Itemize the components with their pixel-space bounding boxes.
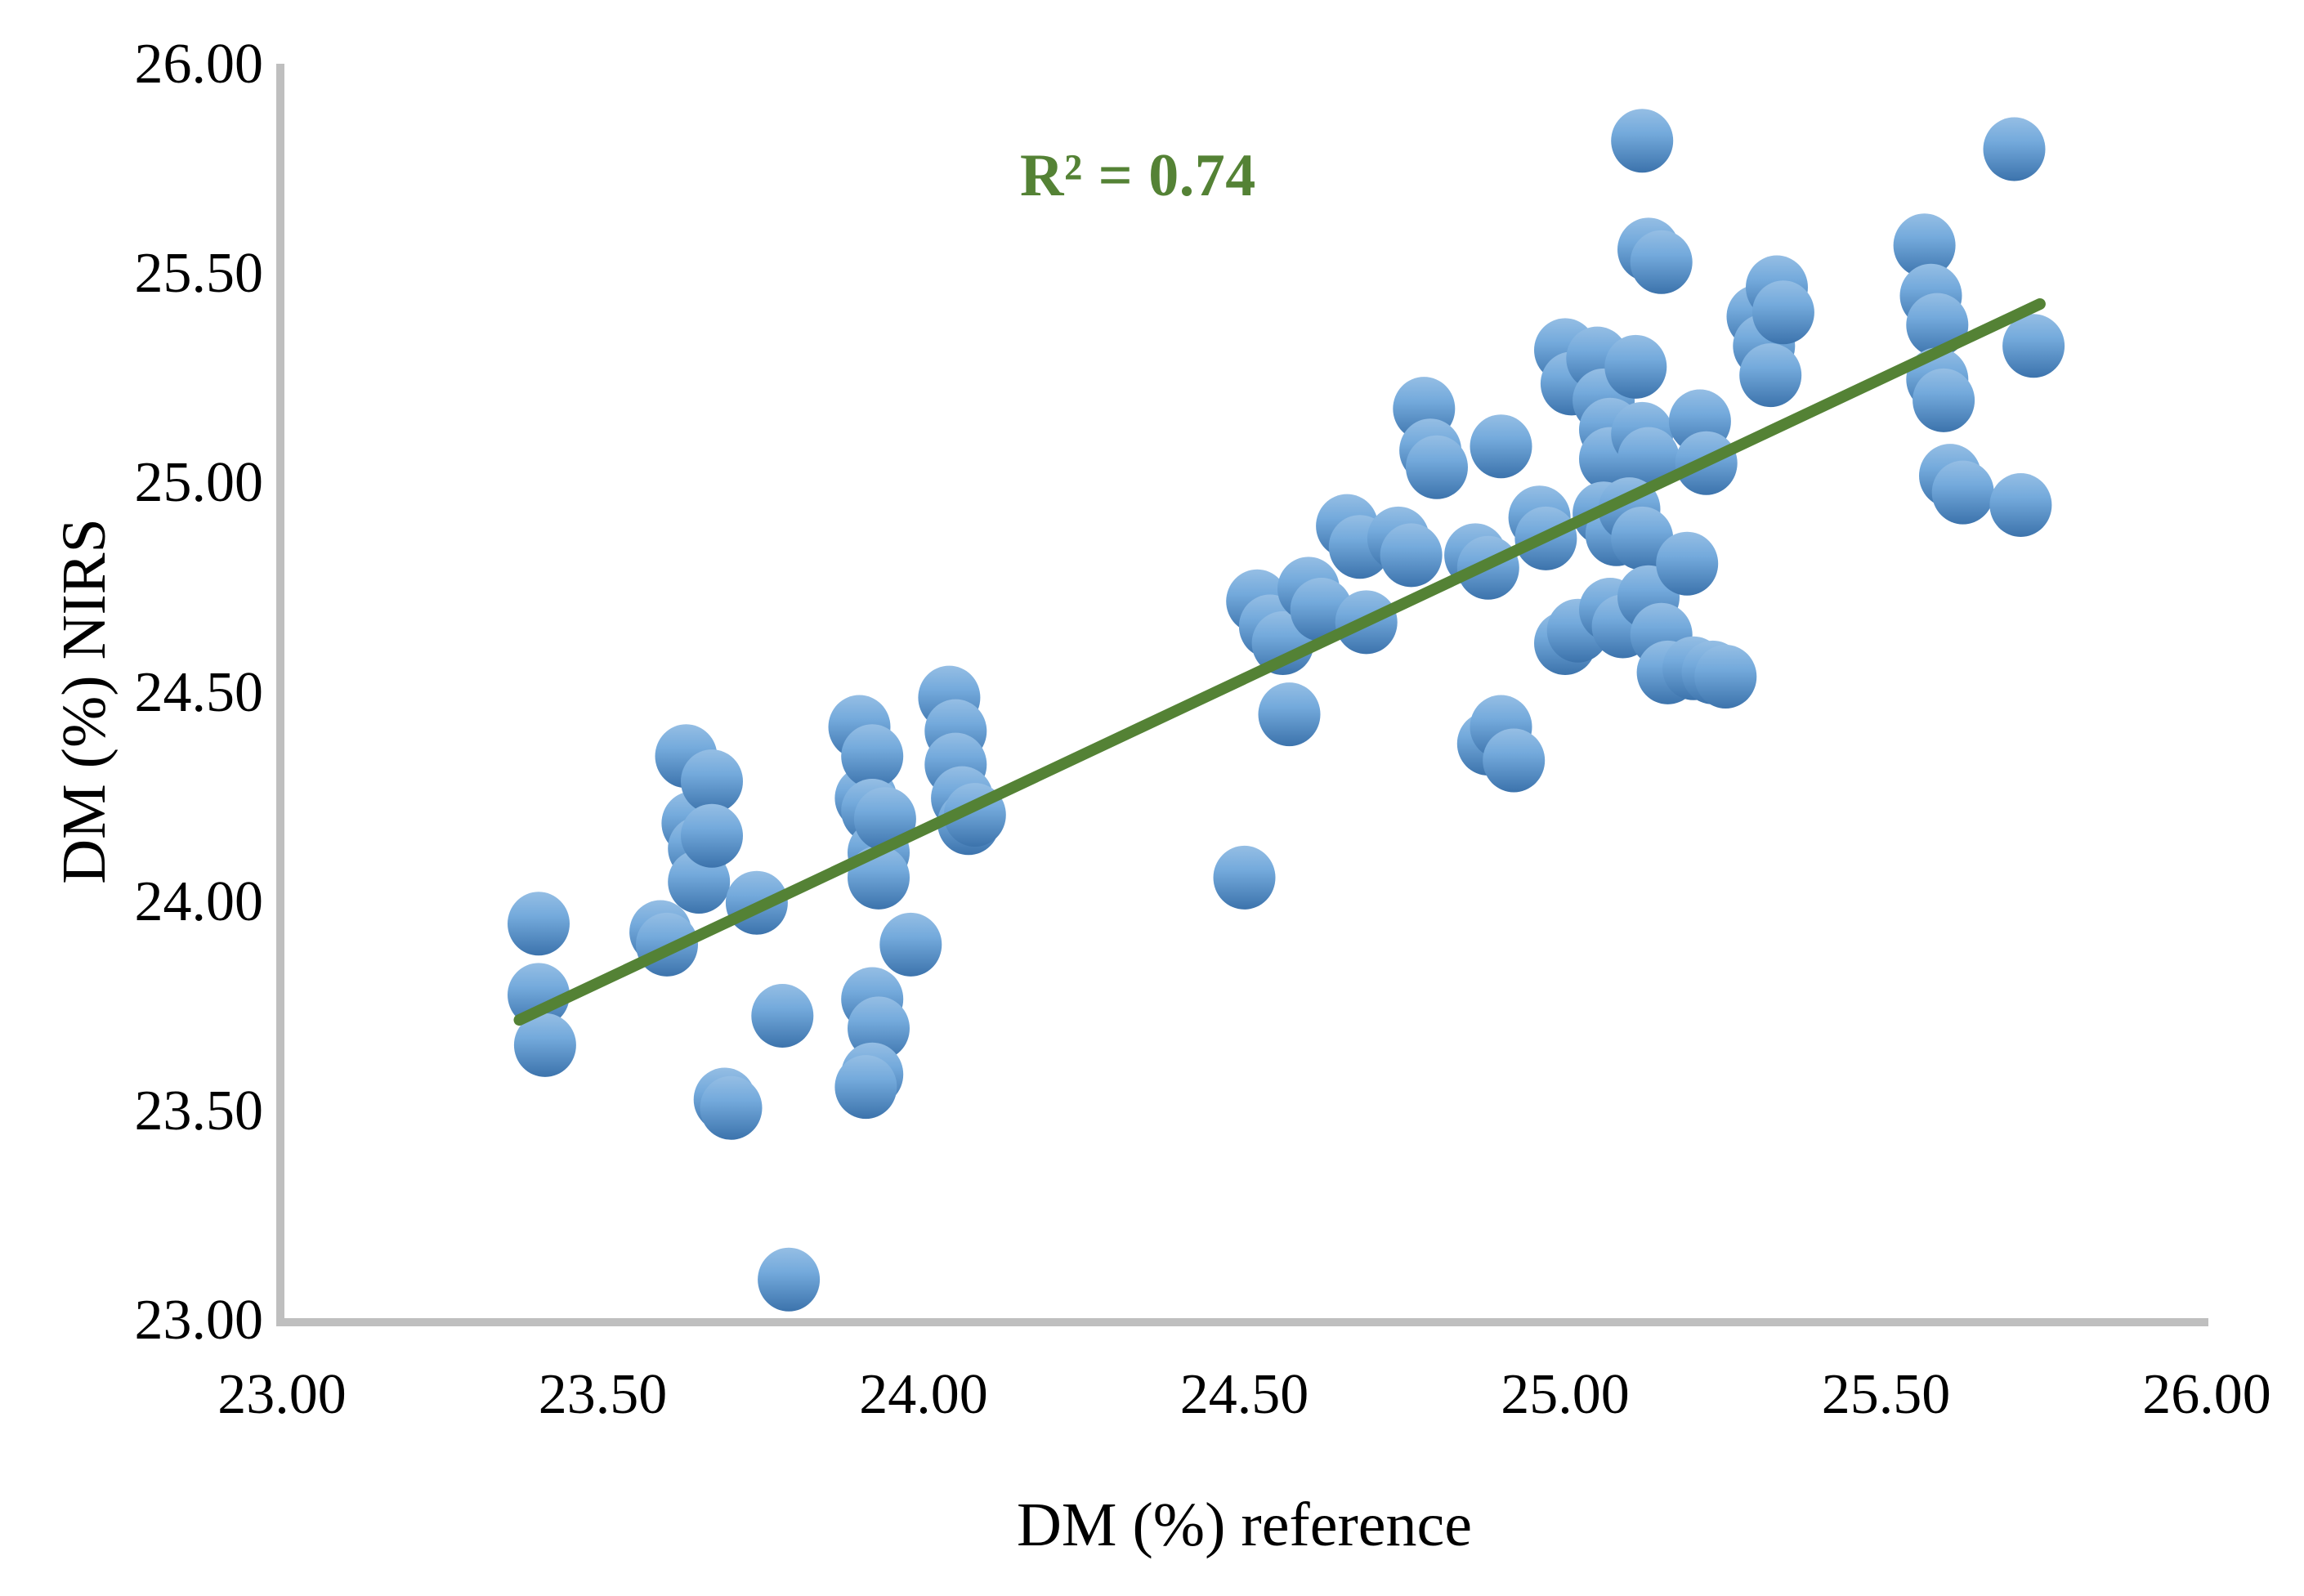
data-point — [1656, 532, 1718, 596]
data-point — [1470, 414, 1532, 478]
y-tick-label: 24.00 — [18, 874, 263, 931]
data-point — [751, 984, 813, 1048]
data-point — [1611, 109, 1673, 172]
data-point — [1637, 641, 1699, 704]
data-point — [1682, 641, 1744, 704]
data-point — [1989, 473, 2051, 537]
x-tick-label: 25.00 — [1434, 1366, 1696, 1424]
data-point — [924, 733, 986, 797]
data-point — [514, 1013, 576, 1077]
data-point — [879, 913, 942, 977]
data-point — [841, 724, 903, 788]
data-point — [681, 749, 743, 813]
y-tick-label: 25.50 — [18, 245, 263, 302]
data-point — [1316, 494, 1378, 558]
data-point — [924, 700, 986, 763]
plot-canvas — [0, 0, 2304, 1596]
data-point — [700, 1076, 763, 1140]
data-point — [937, 791, 1000, 855]
data-point — [1259, 682, 1321, 746]
x-tick-label: 24.00 — [793, 1366, 1054, 1424]
x-tick-label: 23.50 — [472, 1366, 734, 1424]
data-point — [1913, 369, 1975, 432]
trendline-path — [520, 304, 2040, 1020]
r-squared-label: R² = 0.74 — [1020, 145, 1256, 206]
data-point — [668, 816, 730, 880]
data-point — [1675, 431, 1738, 495]
data-point — [1457, 536, 1519, 600]
data-point — [1906, 347, 1968, 411]
data-point — [1617, 566, 1680, 629]
data-point — [1393, 377, 1455, 440]
data-point — [1733, 314, 1795, 378]
data-point — [1586, 503, 1648, 566]
data-point — [1752, 280, 1814, 344]
data-point — [1566, 327, 1628, 391]
data-point — [1541, 351, 1603, 415]
data-point — [1406, 436, 1468, 499]
data-point — [1380, 523, 1443, 587]
data-point — [848, 846, 910, 910]
data-point — [1617, 217, 1680, 281]
data-point — [841, 1043, 903, 1106]
y-tick-label: 23.50 — [18, 1083, 263, 1140]
trendline — [520, 304, 2040, 1020]
data-point — [629, 901, 691, 964]
data-point — [508, 892, 570, 955]
data-point — [1514, 507, 1577, 570]
data-point — [1547, 599, 1609, 663]
scatter-chart: DM (%) NIRS DM (%) reference 23.0023.502… — [0, 0, 2304, 1596]
data-point — [1573, 481, 1635, 545]
data-point — [1534, 318, 1596, 382]
data-point — [854, 787, 916, 851]
data-point — [1329, 515, 1391, 579]
y-tick-label: 23.00 — [18, 1292, 263, 1349]
y-tick-label: 26.00 — [18, 36, 263, 93]
y-tick-label: 24.50 — [18, 664, 263, 722]
data-point — [1573, 369, 1635, 432]
data-point — [829, 695, 891, 759]
data-point — [1727, 284, 1789, 348]
y-axis-line — [276, 64, 284, 1326]
data-point — [1399, 418, 1461, 482]
plot-area — [0, 0, 2304, 1596]
data-point — [661, 791, 723, 855]
x-axis-line — [276, 1318, 2208, 1326]
data-point — [1611, 507, 1673, 570]
data-point — [1470, 695, 1532, 759]
data-point — [848, 820, 910, 884]
data-point — [931, 767, 993, 830]
data-point — [655, 724, 718, 788]
data-point — [668, 850, 730, 914]
data-point — [1367, 507, 1429, 570]
data-point — [848, 996, 910, 1060]
data-point — [1604, 335, 1666, 399]
data-point — [681, 804, 743, 868]
data-point — [1894, 213, 1956, 277]
data-point — [1239, 595, 1301, 659]
data-point — [834, 767, 897, 830]
data-point — [1579, 427, 1641, 491]
data-point — [1746, 256, 1808, 320]
data-point — [1984, 118, 2046, 181]
data-point — [834, 1055, 897, 1119]
data-point — [1611, 402, 1673, 466]
data-point — [1214, 846, 1276, 910]
data-point — [1592, 595, 1654, 659]
data-point — [1335, 590, 1398, 654]
data-point — [1252, 611, 1314, 675]
data-point — [1291, 578, 1353, 642]
data-point — [1906, 293, 1968, 357]
data-point — [1444, 523, 1506, 587]
data-point — [1599, 477, 1661, 541]
data-point — [1226, 570, 1288, 633]
data-point — [1919, 444, 1981, 507]
data-point — [636, 913, 698, 977]
data-point — [726, 871, 788, 935]
data-point — [1694, 645, 1756, 709]
x-tick-label: 25.50 — [1756, 1366, 2017, 1424]
data-point — [1739, 343, 1801, 407]
data-point — [918, 666, 980, 730]
data-point — [1900, 264, 1962, 328]
data-point — [1631, 230, 1693, 294]
data-point — [694, 1068, 756, 1132]
data-point — [1669, 390, 1731, 454]
y-tick-label: 25.00 — [18, 454, 263, 512]
data-point — [1483, 729, 1545, 793]
data-point — [1509, 485, 1571, 549]
x-axis-title: DM (%) reference — [282, 1494, 2207, 1556]
data-point — [1662, 637, 1725, 700]
data-point — [841, 968, 903, 1031]
data-point — [1932, 461, 1994, 525]
data-point — [508, 963, 570, 1026]
data-point — [1277, 557, 1340, 620]
data-point — [758, 1248, 820, 1312]
x-tick-label: 26.00 — [2076, 1366, 2304, 1424]
data-point — [1617, 427, 1680, 491]
x-tick-label: 24.50 — [1114, 1366, 1376, 1424]
data-point — [841, 779, 903, 843]
data-point-markers — [508, 109, 2065, 1312]
data-point — [1579, 398, 1641, 462]
data-point — [2002, 314, 2065, 378]
x-tick-label: 23.00 — [151, 1366, 413, 1424]
data-point — [1631, 603, 1693, 667]
data-point — [1579, 578, 1641, 642]
data-point — [1534, 611, 1596, 675]
data-point — [944, 783, 1006, 847]
data-point — [1457, 712, 1519, 776]
